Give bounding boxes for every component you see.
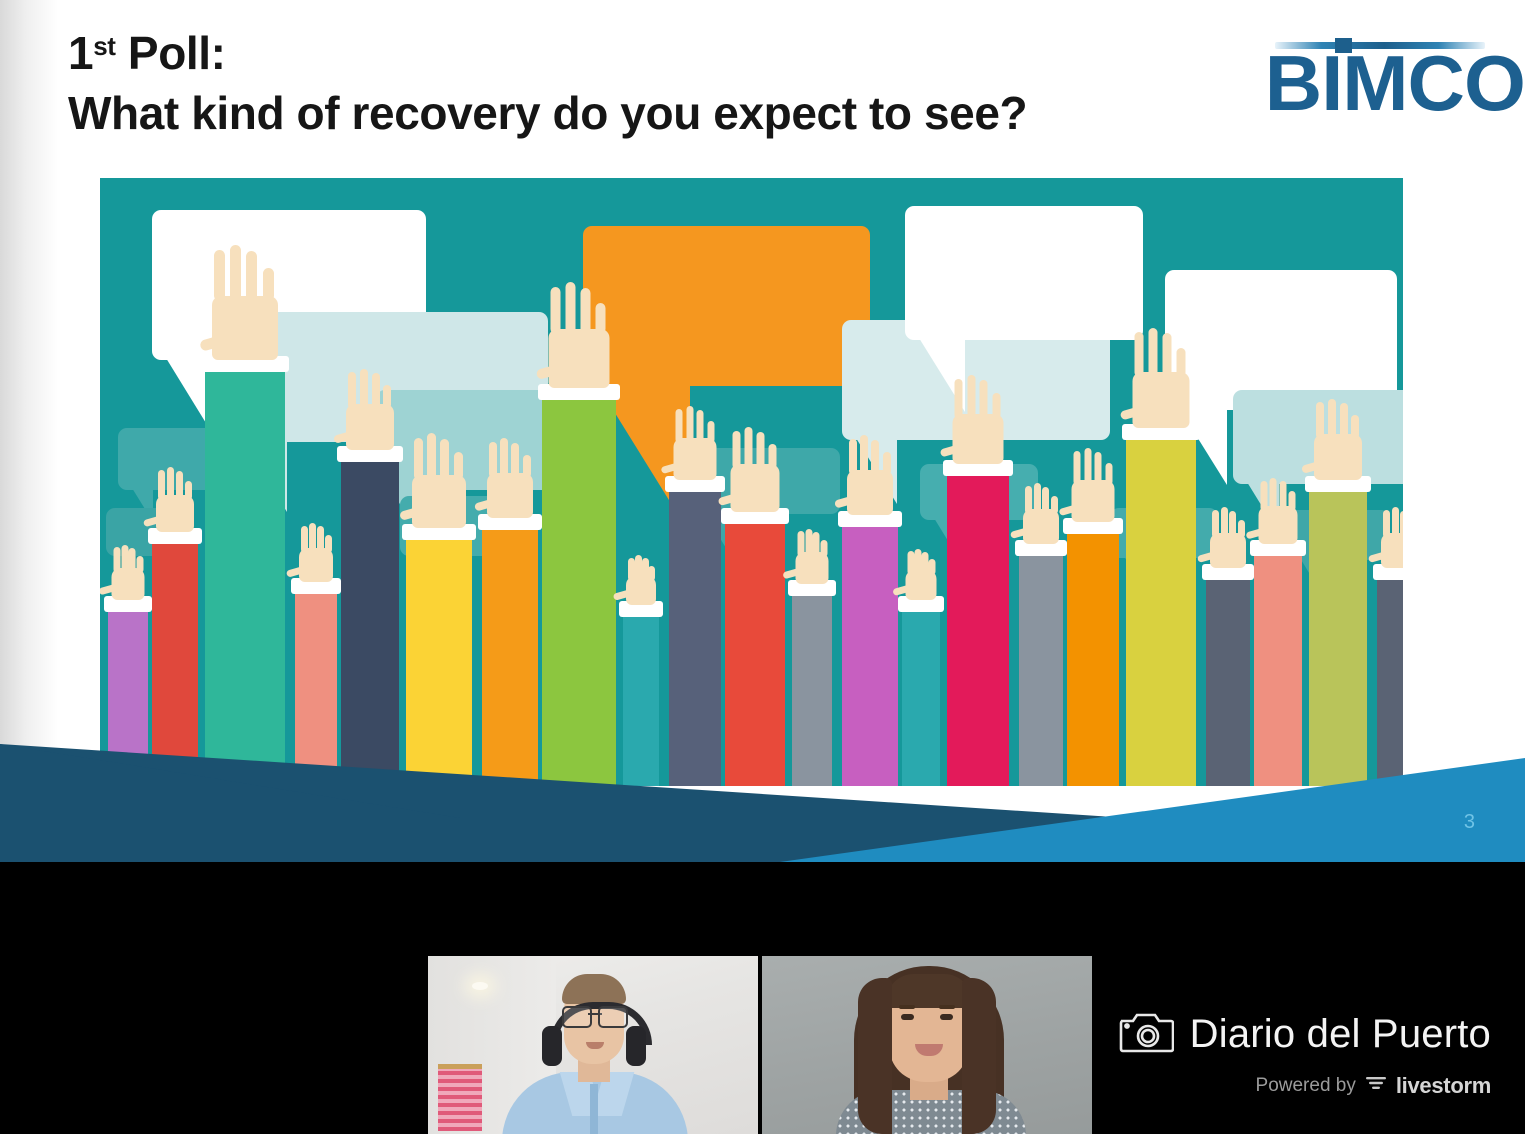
raised-hands-illustration — [100, 178, 1403, 786]
finger-5 — [454, 452, 463, 480]
palm-17 — [1072, 480, 1115, 522]
finger-4 — [1229, 511, 1236, 538]
finger-4 — [1400, 511, 1403, 538]
lens-right — [598, 1006, 628, 1028]
finger-5 — [185, 481, 192, 500]
eye-left — [901, 1014, 914, 1020]
watermark-brand-row: Diario del Puerto — [1118, 1010, 1491, 1059]
hand-22 — [1368, 473, 1403, 568]
palm-2 — [156, 495, 194, 532]
finger-4 — [871, 440, 879, 475]
hand-18 — [1120, 312, 1203, 428]
hand-4 — [286, 488, 346, 582]
finger-4 — [129, 548, 136, 573]
presentation-slide: 1st Poll: What kind of recovery do you e… — [0, 0, 1525, 862]
finger-2 — [214, 250, 225, 301]
finger-3 — [1328, 399, 1336, 439]
finger-3 — [1221, 507, 1228, 538]
hand-13 — [834, 410, 906, 515]
finger-2 — [348, 372, 356, 409]
finger-3 — [1149, 328, 1158, 377]
finger-2 — [1316, 402, 1324, 439]
finger-4 — [1042, 487, 1049, 514]
finger-2 — [908, 551, 915, 575]
finger-4 — [1280, 481, 1287, 511]
eye-right — [940, 1014, 953, 1020]
finger-4 — [813, 532, 820, 557]
finger-3 — [1085, 448, 1092, 485]
finger-4 — [317, 526, 324, 553]
finger-2 — [301, 526, 308, 553]
hand-14 — [893, 510, 950, 600]
finger-4 — [1163, 333, 1172, 377]
finger-2 — [1135, 332, 1144, 377]
webinar-screenshot: 1st Poll: What kind of recovery do you e… — [0, 0, 1525, 1134]
finger-4 — [922, 552, 929, 575]
hand-21 — [1301, 374, 1375, 480]
finger-2 — [1074, 451, 1081, 485]
camera-icon — [1118, 1010, 1174, 1059]
raised-hand-15 — [947, 350, 1009, 786]
hand-11 — [718, 404, 793, 512]
speaker-hair-right — [962, 978, 996, 1134]
finger-4 — [246, 251, 257, 301]
bimco-logo: BIMCO — [1267, 26, 1491, 138]
bubble-white-2 — [905, 206, 1143, 340]
finger-5 — [769, 444, 777, 469]
finger-5 — [1238, 520, 1245, 538]
finger-2 — [158, 470, 165, 500]
finger-4 — [581, 288, 591, 334]
finger-3 — [566, 282, 576, 334]
poll-ordinal-suffix: st — [93, 31, 115, 61]
speaker-hair-left — [858, 978, 892, 1134]
finger-2 — [733, 431, 741, 469]
wall-artwork — [438, 1064, 482, 1131]
finger-2 — [1383, 510, 1390, 538]
poll-number: 1 — [68, 27, 93, 79]
hand-6 — [399, 415, 479, 528]
powered-by-row: Powered by livestorm — [1118, 1073, 1491, 1099]
finger-3 — [687, 406, 694, 443]
finger-5 — [883, 452, 891, 475]
palm-3 — [212, 296, 278, 360]
bubble-orange — [583, 226, 870, 386]
eyebrow-right — [939, 1005, 955, 1009]
palm-21 — [1314, 434, 1362, 480]
finger-4 — [440, 439, 449, 480]
hand-5 — [333, 344, 407, 450]
eyebrow-left — [899, 1005, 915, 1009]
palm-20 — [1259, 506, 1298, 544]
watermark-brand-name: Diario del Puerto — [1190, 1012, 1491, 1057]
finger-5 — [821, 540, 828, 557]
finger-5 — [1289, 491, 1296, 511]
finger-4 — [176, 471, 183, 500]
finger-2 — [955, 379, 963, 419]
wave-graphic — [0, 722, 1525, 862]
finger-5 — [1051, 496, 1058, 514]
livestorm-wordmark: livestorm — [1396, 1073, 1491, 1099]
hand-9 — [613, 516, 669, 605]
finger-5 — [993, 393, 1001, 419]
finger-5 — [1106, 463, 1113, 485]
finger-3 — [860, 435, 868, 475]
finger-2 — [676, 409, 683, 443]
raised-hand-18 — [1126, 314, 1196, 786]
finger-5 — [383, 385, 391, 409]
finger-4 — [372, 373, 380, 409]
speaker-fringe — [886, 974, 972, 1008]
palm-10 — [674, 438, 717, 480]
finger-4 — [757, 432, 765, 469]
finger-4 — [511, 443, 519, 478]
finger-3 — [122, 545, 129, 573]
finger-5 — [325, 535, 332, 553]
hand-7 — [474, 413, 546, 518]
finger-5 — [1177, 348, 1186, 377]
finger-2 — [114, 547, 121, 573]
finger-4 — [1095, 452, 1102, 485]
raised-hand-8 — [542, 274, 616, 786]
finger-3 — [309, 523, 316, 553]
palm-11 — [731, 464, 780, 512]
finger-3 — [1392, 507, 1399, 538]
logo-wordmark: BIMCO — [1265, 44, 1493, 122]
finger-4 — [697, 410, 704, 443]
slide-title: 1st Poll: What kind of recovery do you e… — [68, 26, 1218, 141]
speaker-hair — [562, 974, 626, 1004]
powered-by-label: Powered by — [1256, 1075, 1356, 1097]
finger-2 — [1025, 486, 1032, 514]
finger-3 — [1034, 483, 1041, 514]
finger-2 — [551, 287, 561, 334]
finger-2 — [489, 442, 497, 478]
lens-left — [562, 1006, 592, 1028]
slide-footer-wave: 3 — [0, 722, 1525, 862]
finger-5 — [523, 455, 531, 478]
raised-hand-3 — [205, 246, 285, 786]
slide-page-number: 3 — [1464, 811, 1475, 834]
finger-4 — [1340, 403, 1348, 439]
finger-3 — [167, 467, 174, 500]
hand-8 — [536, 269, 623, 388]
ceiling-light — [472, 982, 488, 990]
palm-5 — [346, 404, 394, 450]
finger-3 — [360, 369, 368, 409]
finger-2 — [798, 531, 805, 557]
participant-video-female[interactable] — [762, 956, 1092, 1134]
raised-hand-5 — [341, 336, 399, 786]
finger-3 — [968, 375, 976, 419]
finger-3 — [915, 549, 922, 575]
finger-4 — [980, 380, 988, 419]
finger-2 — [414, 438, 423, 480]
headset-earcup-right — [626, 1026, 646, 1066]
hand-12 — [783, 492, 842, 584]
finger-3 — [635, 555, 642, 581]
finger-5 — [1351, 415, 1359, 439]
palm-7 — [487, 473, 533, 518]
finger-5 — [929, 559, 936, 575]
finger-5 — [263, 268, 274, 301]
headset-earcup-left — [542, 1026, 562, 1066]
hand-2 — [143, 435, 207, 532]
finger-5 — [708, 421, 715, 443]
finger-2 — [1212, 510, 1219, 538]
palm-6 — [412, 475, 466, 528]
finger-2 — [1261, 481, 1268, 511]
slide-title-line-2: What kind of recovery do you expect to s… — [68, 86, 1218, 140]
palm-15 — [953, 414, 1004, 464]
palm-18 — [1133, 372, 1190, 428]
palm-8 — [549, 329, 610, 388]
participant-video-male[interactable] — [428, 956, 758, 1134]
shirt-placket — [590, 1084, 598, 1134]
finger-5 — [596, 303, 606, 334]
slide-title-line-1: 1st Poll: — [68, 26, 1218, 80]
finger-3 — [427, 433, 436, 480]
watermark-overlay: Diario del Puerto Powered by livestorm — [1118, 1010, 1491, 1099]
hand-17 — [1059, 420, 1128, 522]
finger-2 — [628, 558, 635, 581]
poll-word: Poll: — [128, 27, 226, 79]
finger-2 — [849, 439, 857, 475]
palm-13 — [847, 470, 893, 515]
finger-3 — [745, 427, 753, 469]
finger-3 — [1270, 478, 1277, 511]
hand-3 — [199, 236, 291, 360]
finger-3 — [500, 438, 508, 478]
finger-5 — [648, 566, 655, 581]
livestorm-icon — [1365, 1075, 1387, 1097]
eyeglasses — [562, 1006, 628, 1024]
finger-3 — [230, 245, 241, 301]
hand-15 — [940, 354, 1017, 464]
finger-3 — [806, 529, 813, 557]
finger-5 — [137, 556, 144, 573]
